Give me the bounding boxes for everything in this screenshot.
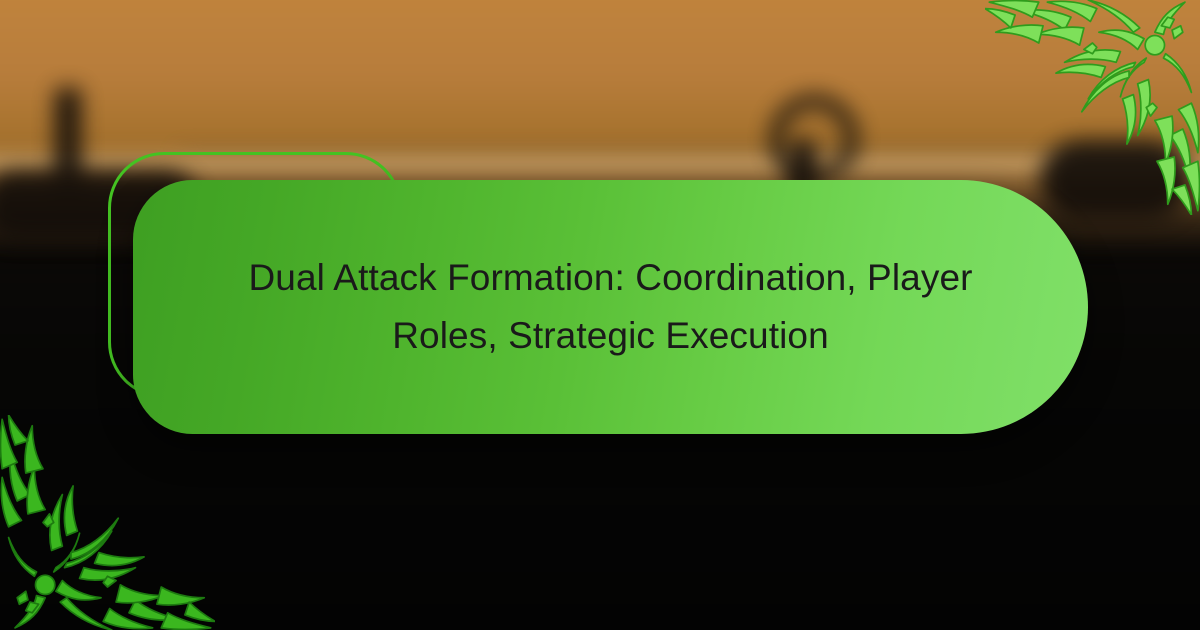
title-card: Dual Attack Formation: Coordination, Pla…	[133, 180, 1088, 434]
banner-canvas: Dual Attack Formation: Coordination, Pla…	[0, 0, 1200, 630]
page-title: Dual Attack Formation: Coordination, Pla…	[231, 249, 991, 366]
silhouette-blob-right	[1040, 140, 1190, 220]
